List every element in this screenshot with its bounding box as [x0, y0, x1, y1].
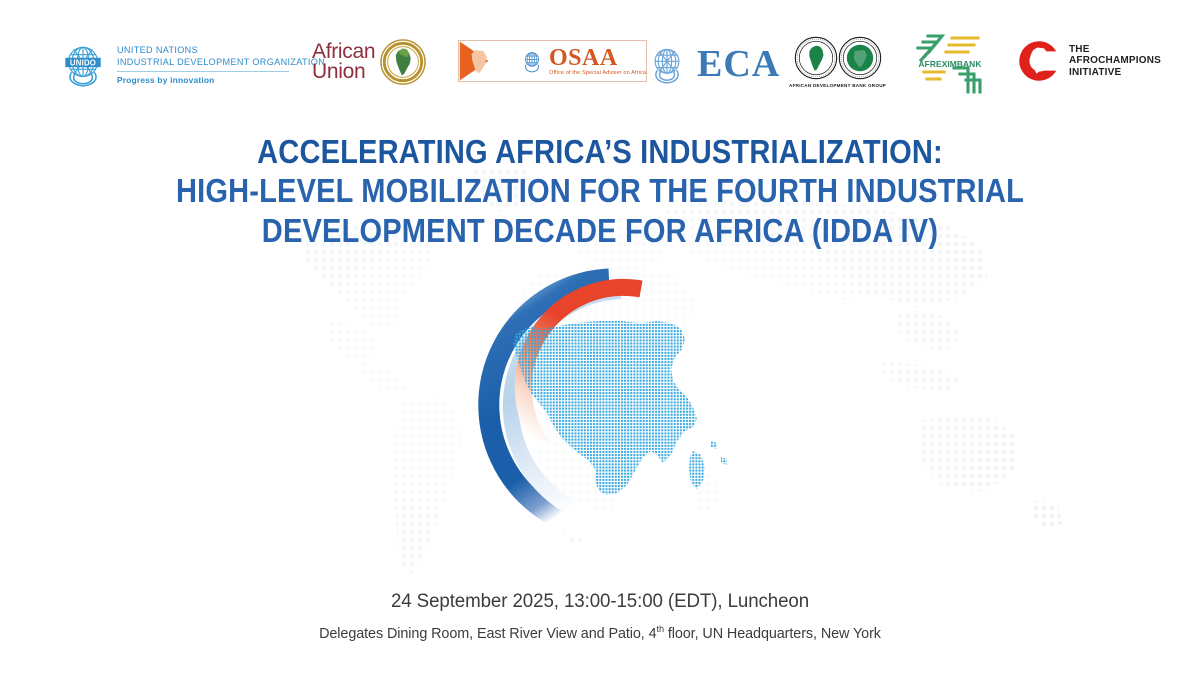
title-line-2: HIGH-LEVEL MOBILIZATION FOR THE FOURTH I… [72, 171, 1128, 211]
venue-ordinal-suffix: th [657, 624, 664, 635]
title-line-1: ACCELERATING AFRICA’S INDUSTRIALIZATION: [72, 133, 1128, 171]
unido-tagline: Progress by innovation [117, 75, 325, 85]
unido-line2: INDUSTRIAL DEVELOPMENT ORGANIZATION [117, 56, 325, 68]
afrochampions-initiative-logo: THE AFROCHAMPIONS INITIATIVE [1018, 40, 1161, 82]
venue-text-after: floor, UN Headquarters, New York [664, 625, 881, 642]
afrochampions-line1: THE [1069, 44, 1161, 55]
svg-text:UNIDO: UNIDO [70, 58, 96, 67]
au-line2: Union [312, 62, 375, 82]
unido-logo: UNIDO UNITED NATIONS INDUSTRIAL DEVELOPM… [57, 38, 325, 90]
event-datetime: 24 September 2025, 13:00-15:00 (EDT), Lu… [24, 588, 1176, 614]
unido-line1: UNITED NATIONS [117, 44, 325, 56]
red-circle-africa-icon [1018, 40, 1060, 82]
afrochampions-line3: INITIATIVE [1069, 67, 1161, 78]
au-line1: African [312, 42, 375, 62]
un-laurel-globe-emblem [645, 42, 689, 86]
venue-text-before: Delegates Dining Room, East River View a… [319, 625, 656, 642]
african-union-logo: African Union [312, 38, 427, 86]
event-venue: Delegates Dining Room, East River View a… [24, 619, 1176, 645]
osaa-subtitle: Office of the Special Adviser on Africa [549, 70, 646, 76]
adb-seal-icon [838, 36, 882, 80]
african-development-bank-logo: AFRICAN DEVELOPMENT BANK GROUP [789, 36, 886, 88]
afdb-caption: AFRICAN DEVELOPMENT BANK GROUP [789, 83, 886, 88]
eca-wordmark: ECA [697, 42, 780, 86]
afreximbank-wordmark: AFREXIMBANK [908, 59, 992, 69]
osaa-logo: OSAA Office of the Special Adviser on Af… [458, 40, 647, 82]
afrochampions-line2: AFROCHAMPIONS [1069, 55, 1161, 66]
event-details: 24 September 2025, 13:00-15:00 (EDT), Lu… [0, 588, 1200, 645]
africa-halo-graphic [435, 265, 765, 565]
au-gold-seal-africa-icon [379, 38, 427, 86]
uneca-logo: ECA [645, 42, 780, 86]
afdb-seal-icon [794, 36, 838, 80]
un-laurel-globe-emblem [519, 48, 545, 74]
orange-arrow-africa-icon [459, 40, 511, 82]
afreximbank-logo: AFREXIMBANK [908, 32, 992, 94]
unido-divider [117, 71, 289, 72]
partner-logo-strip: UNIDO UNITED NATIONS INDUSTRIAL DEVELOPM… [0, 0, 1200, 118]
osaa-wordmark: OSAA [549, 47, 646, 69]
un-laurel-globe-emblem: UNIDO [57, 38, 109, 90]
title-line-3: DEVELOPMENT DECADE FOR AFRICA (IDDA IV) [72, 211, 1128, 251]
page-title: ACCELERATING AFRICA’S INDUSTRIALIZATION:… [0, 133, 1200, 251]
